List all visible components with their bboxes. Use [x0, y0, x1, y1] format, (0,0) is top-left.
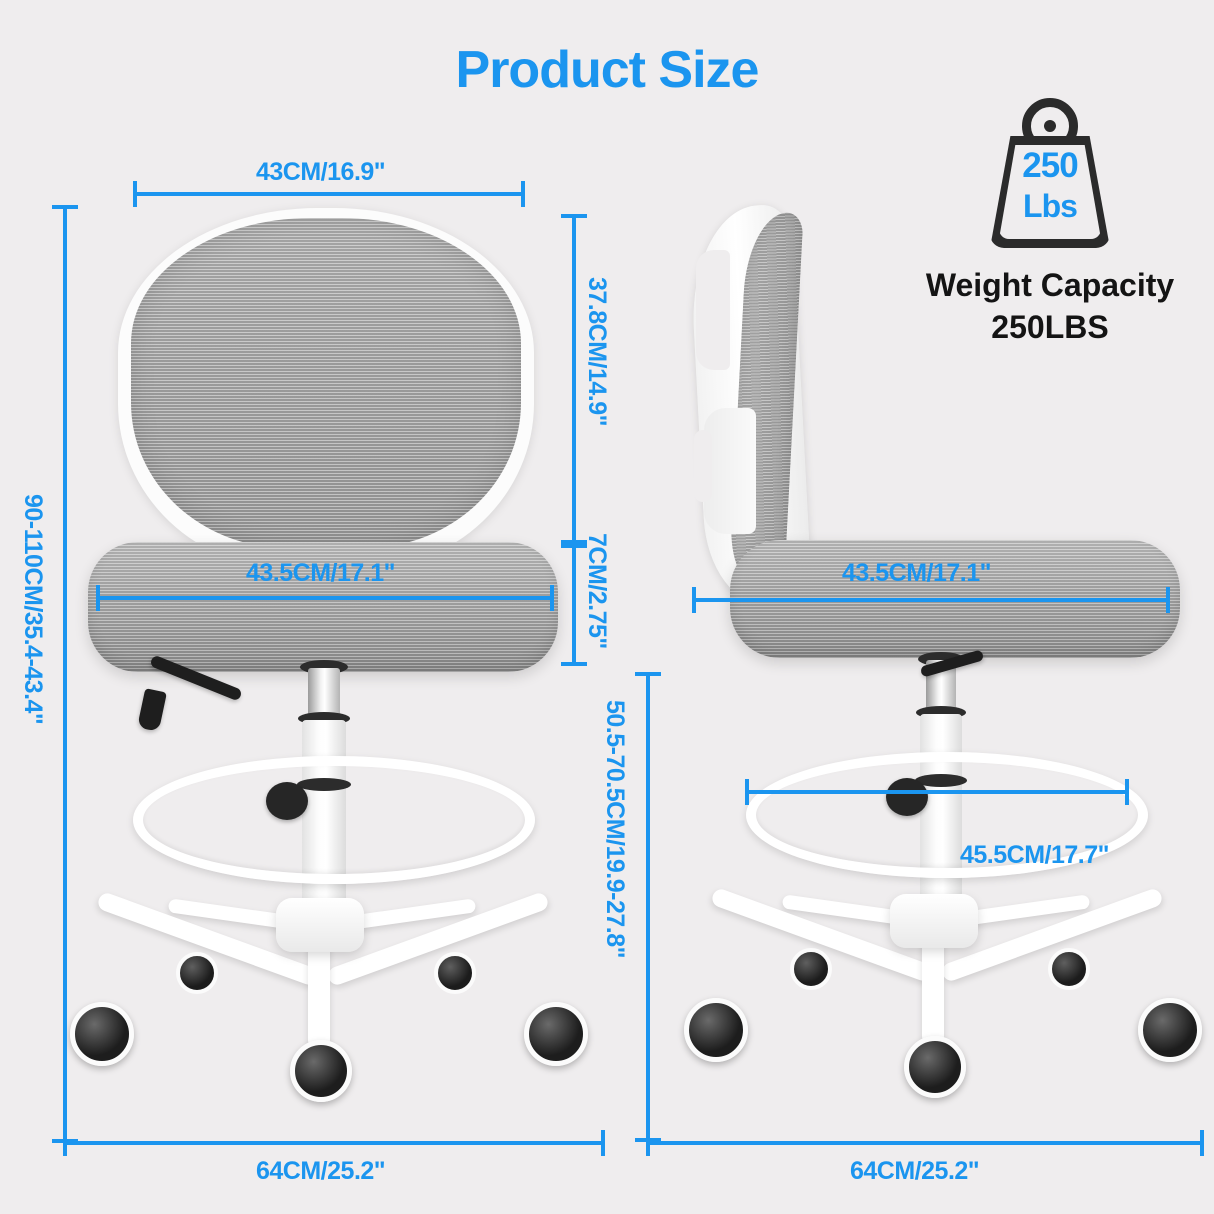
dimlabel-backrest-width: 43CM/16.9": [256, 158, 385, 187]
backrest-side-cutout-lower: [694, 430, 712, 502]
dimlabel-base-width-front: 64CM/25.2": [256, 1157, 385, 1186]
dimline-seat-depth: [692, 598, 1170, 602]
dimline-base-width-side: [646, 1141, 1204, 1145]
caster-rear-right: [434, 952, 476, 994]
caster-rear-left-side: [790, 948, 832, 990]
height-adjust-lever-tip: [137, 688, 167, 732]
base-hub: [276, 898, 364, 952]
dimlabel-seat-depth: 43.5CM/17.1": [842, 559, 991, 588]
backrest-side-cutout-upper: [696, 250, 730, 370]
chair-side-view: 43.5CM/17.1" 50.5-70.5CM/19.9-27.8" 45.5…: [620, 0, 1214, 1214]
caster-rear-right-side: [1048, 948, 1090, 990]
footrest-ring: [133, 756, 535, 884]
dimlabel-seat-width: 43.5CM/17.1": [246, 559, 395, 588]
dimline-seat-thickness: [572, 544, 576, 666]
dimlabel-base-width-side: 64CM/25.2": [850, 1157, 979, 1186]
dimlabel-seat-thickness: 7CM/2.75": [582, 533, 611, 649]
dimline-base-width-front: [63, 1141, 605, 1145]
caster-front-center-side: [904, 1036, 966, 1098]
backrest-mesh: [131, 218, 521, 548]
dimline-seat-width: [96, 596, 554, 600]
chair-front-view: 43CM/16.9" 90-110CM/35.4-43.4" 37.8CM/14…: [0, 0, 620, 1214]
caster-front-center: [290, 1040, 352, 1102]
caster-front-right: [524, 1002, 588, 1066]
dimline-seat-height: [646, 672, 650, 1142]
dimline-backrest-width: [133, 192, 525, 196]
caster-rear-left: [176, 952, 218, 994]
dimlabel-footring-diameter: 45.5CM/17.7": [960, 841, 1109, 870]
dimlabel-backrest-height: 37.8CM/14.9": [582, 277, 611, 426]
caster-front-left: [70, 1002, 134, 1066]
caster-front-left-side: [684, 998, 748, 1062]
caster-front-right-side: [1138, 998, 1202, 1062]
base-hub-side: [890, 894, 978, 948]
dimlabel-seat-height: 50.5-70.5CM/19.9-27.8": [600, 700, 629, 958]
footrest-adjust-knob: [266, 782, 308, 820]
dimline-backrest-height: [572, 214, 576, 544]
dimline-total-height: [63, 205, 67, 1143]
product-size-diagram: Product Size 250 Lbs Weight Capacity 250…: [0, 0, 1214, 1214]
dimlabel-total-height: 90-110CM/35.4-43.4": [18, 494, 47, 724]
dimline-footring-diameter: [745, 790, 1129, 794]
footrest-adjust-knob-side: [886, 778, 928, 816]
gas-cylinder: [308, 668, 340, 716]
